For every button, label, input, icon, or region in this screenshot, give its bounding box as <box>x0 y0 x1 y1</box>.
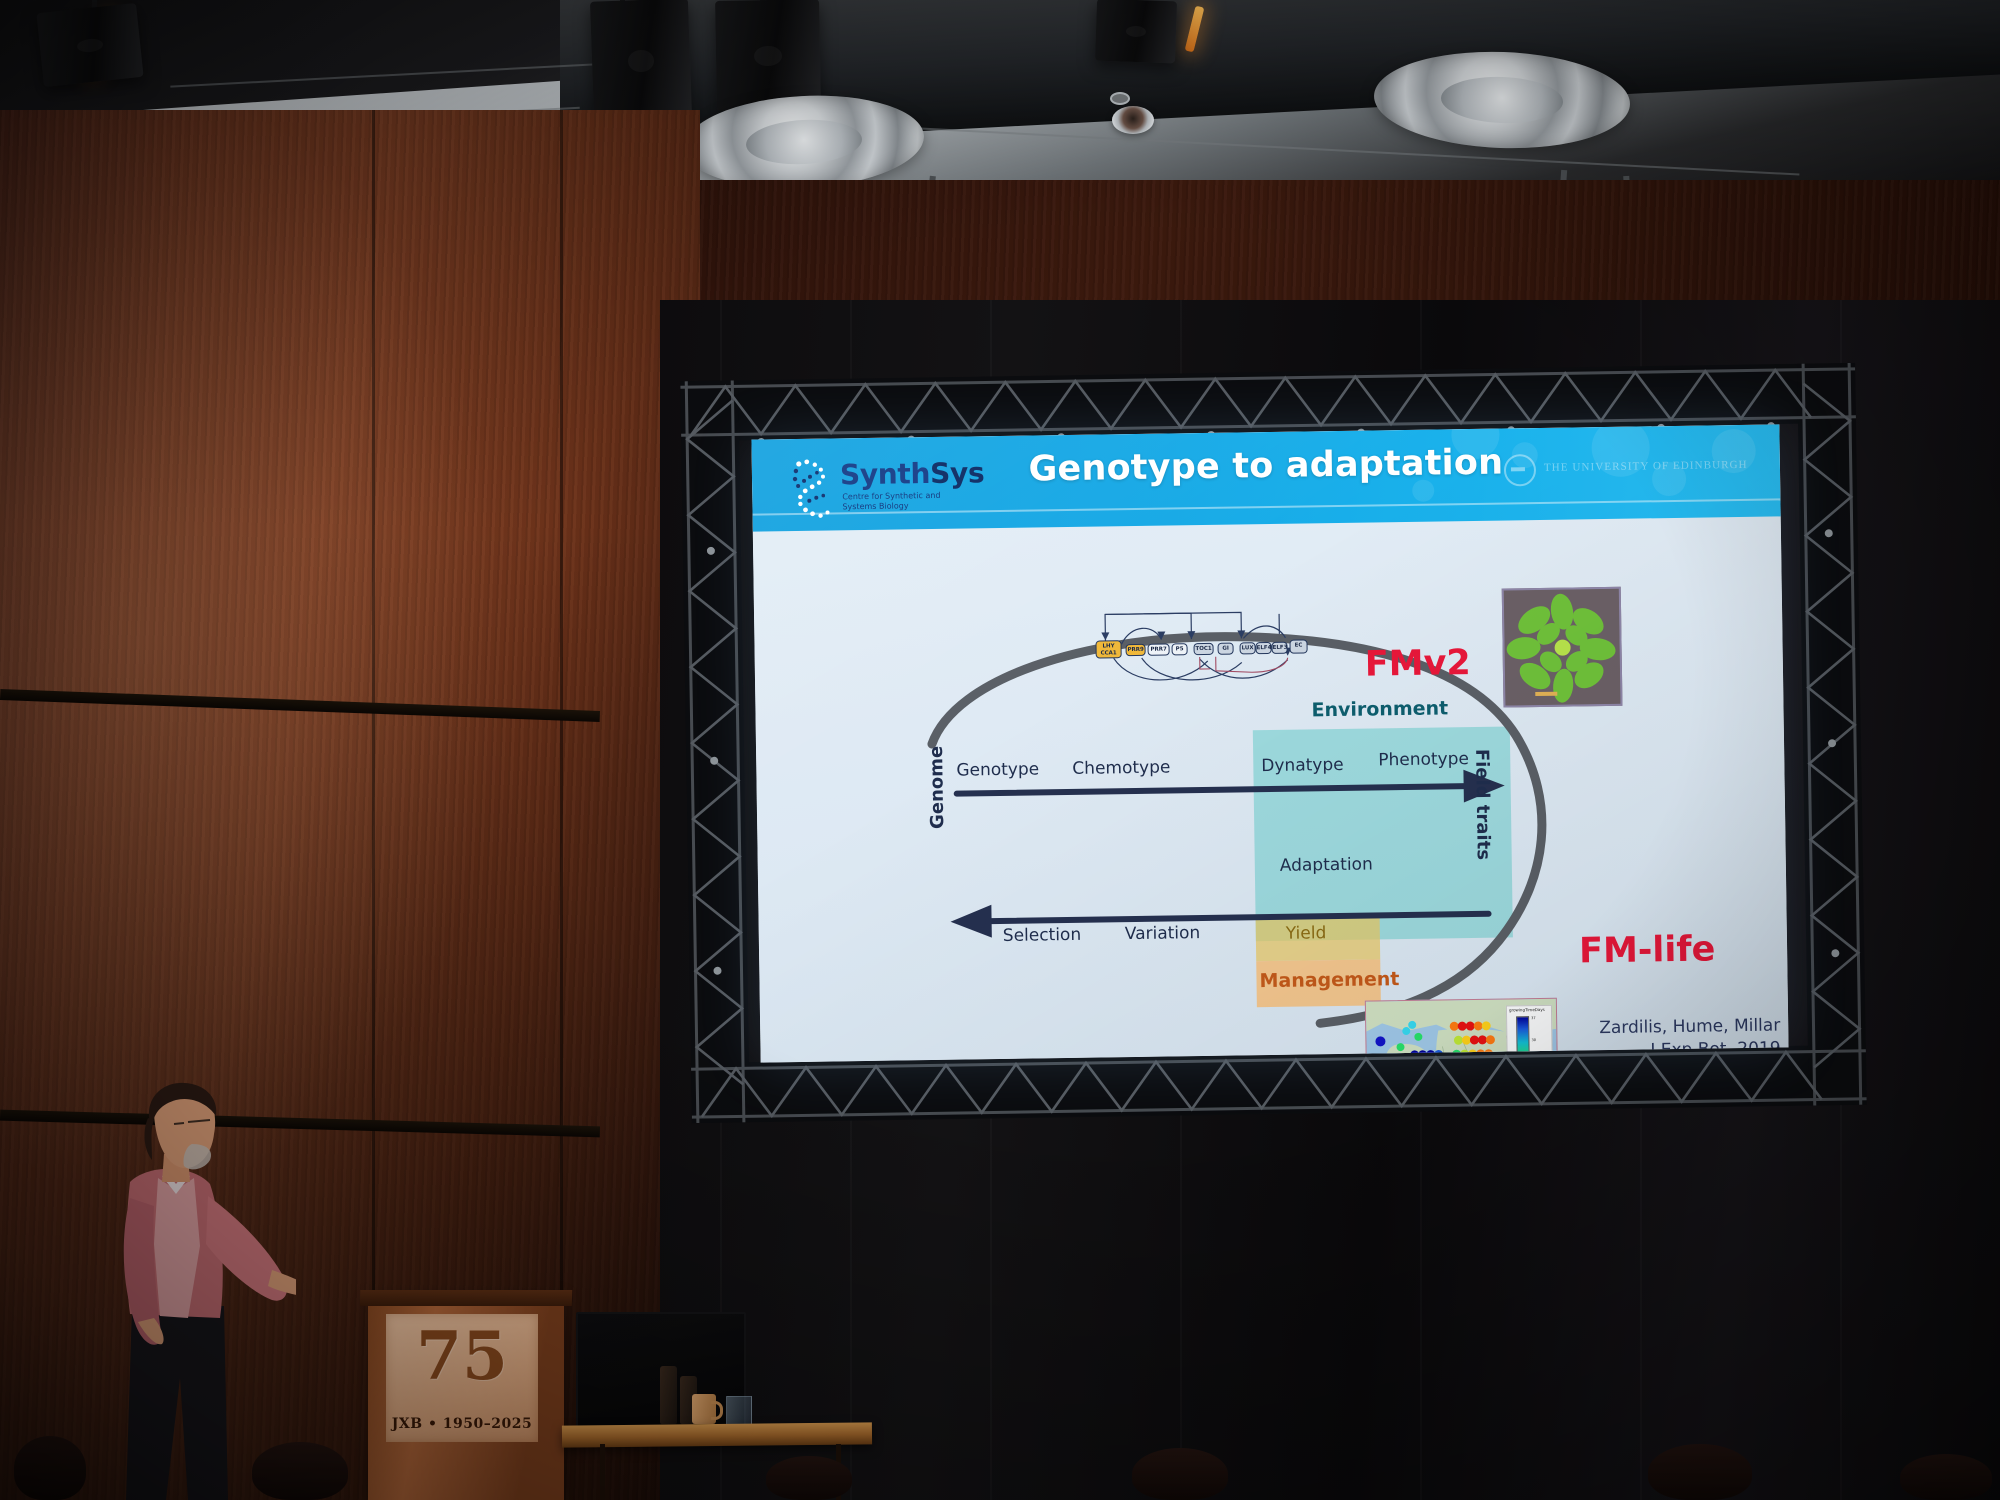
coffee-mug <box>692 1394 716 1424</box>
gene-box-elf4: ELF4 <box>1255 642 1271 654</box>
citation-authors: Zardilis, Hume, Millar <box>1550 1014 1780 1040</box>
arabidopsis-plant-photo <box>1502 587 1623 708</box>
hanging-speaker <box>715 0 821 111</box>
audience-head <box>252 1442 348 1500</box>
gene-box-toc1: TOC1 <box>1194 643 1214 655</box>
gene-box-prr7: PRR7 <box>1148 643 1170 655</box>
presenter-figure <box>96 1078 296 1500</box>
chain-label-phenotype: Phenotype <box>1378 749 1469 770</box>
chain-label-selection: Selection <box>1003 925 1082 946</box>
audience-head <box>1900 1454 1992 1500</box>
jxb-anniversary-plaque: 75 JXB • 1950–2025 <box>386 1314 538 1442</box>
rosette-illustration <box>1504 589 1621 706</box>
chain-label-genotype: Genotype <box>956 759 1039 780</box>
university-logo: THE UNIVERSITY OF EDINBURGH <box>1504 449 1755 489</box>
side-table <box>562 1422 872 1447</box>
audience-head <box>1648 1444 1752 1500</box>
conference-photo-scene: SynthSys Centre for Synthetic and System… <box>0 0 2000 1500</box>
label-adaptation: Adaptation <box>1280 854 1373 875</box>
label-environment: Environment <box>1311 697 1448 721</box>
audience-head <box>1132 1448 1228 1500</box>
colorbar-tick: 37 <box>1531 1016 1536 1020</box>
chain-label-dynatype: Dynatype <box>1261 755 1344 776</box>
colorbar-tick: 30 <box>1531 1038 1536 1042</box>
axis-label-genome: Genome <box>926 746 948 829</box>
circadian-clock-network: LHYCCA1 PRR9 PRR7 P5 TOC1 GI LUX ELF4 EL… <box>1091 597 1312 700</box>
slide-header-bar: SynthSys Centre for Synthetic and System… <box>751 424 1780 531</box>
chain-label-chemotype: Chemotype <box>1072 757 1170 778</box>
vent-core <box>1471 87 1533 112</box>
gene-box-elf3: ELF3 <box>1271 642 1287 654</box>
synthsys-tagline: Centre for Synthetic and Systems Biology <box>842 491 940 512</box>
recessed-downlight <box>1112 106 1154 134</box>
gene-box-prr5: P5 <box>1172 643 1188 655</box>
crest-icon <box>1504 454 1536 486</box>
vent-core <box>775 129 834 154</box>
audience-head <box>766 1456 852 1500</box>
smoke-detector <box>1110 92 1130 105</box>
hanging-speaker <box>36 3 143 87</box>
anniversary-caption: JXB • 1950–2025 <box>386 1416 538 1432</box>
presentation-slide: SynthSys Centre for Synthetic and System… <box>751 424 1788 1062</box>
gene-box-prr9: PRR9 <box>1126 644 1146 656</box>
hanging-speaker <box>590 0 692 122</box>
gene-box-gi: GI <box>1217 643 1233 655</box>
label-management: Management <box>1259 968 1399 992</box>
lectern-top-edge <box>360 1290 573 1306</box>
axis-label-field-traits: Field traits <box>1471 749 1494 860</box>
university-wordmark: THE UNIVERSITY OF EDINBURGH <box>1544 459 1748 474</box>
anniversary-number: 75 <box>386 1316 538 1396</box>
chain-label-variation: Variation <box>1125 923 1201 944</box>
table-leg <box>600 1444 605 1500</box>
gene-box-lhy-cca1: LHYCCA1 <box>1095 640 1121 658</box>
label-fmlife: FM-life <box>1579 929 1716 971</box>
projection-screen: SynthSys Centre for Synthetic and System… <box>751 424 1788 1062</box>
slide-body: LHYCCA1 PRR9 PRR7 P5 TOC1 GI LUX ELF4 EL… <box>753 516 1789 1062</box>
presenter <box>96 1078 296 1500</box>
gene-box-ec: EC <box>1289 639 1307 653</box>
colorbar-title: growingTimeDays <box>1509 1007 1545 1013</box>
lectern: 75 JXB • 1950–2025 <box>368 1300 564 1500</box>
hanging-speaker <box>1095 0 1177 63</box>
label-fmv2: FMv2 <box>1365 643 1471 685</box>
label-yield: Yield <box>1286 923 1327 944</box>
bottle <box>660 1366 677 1424</box>
gene-box-lux: LUX <box>1239 642 1255 654</box>
audience-head <box>14 1436 86 1500</box>
